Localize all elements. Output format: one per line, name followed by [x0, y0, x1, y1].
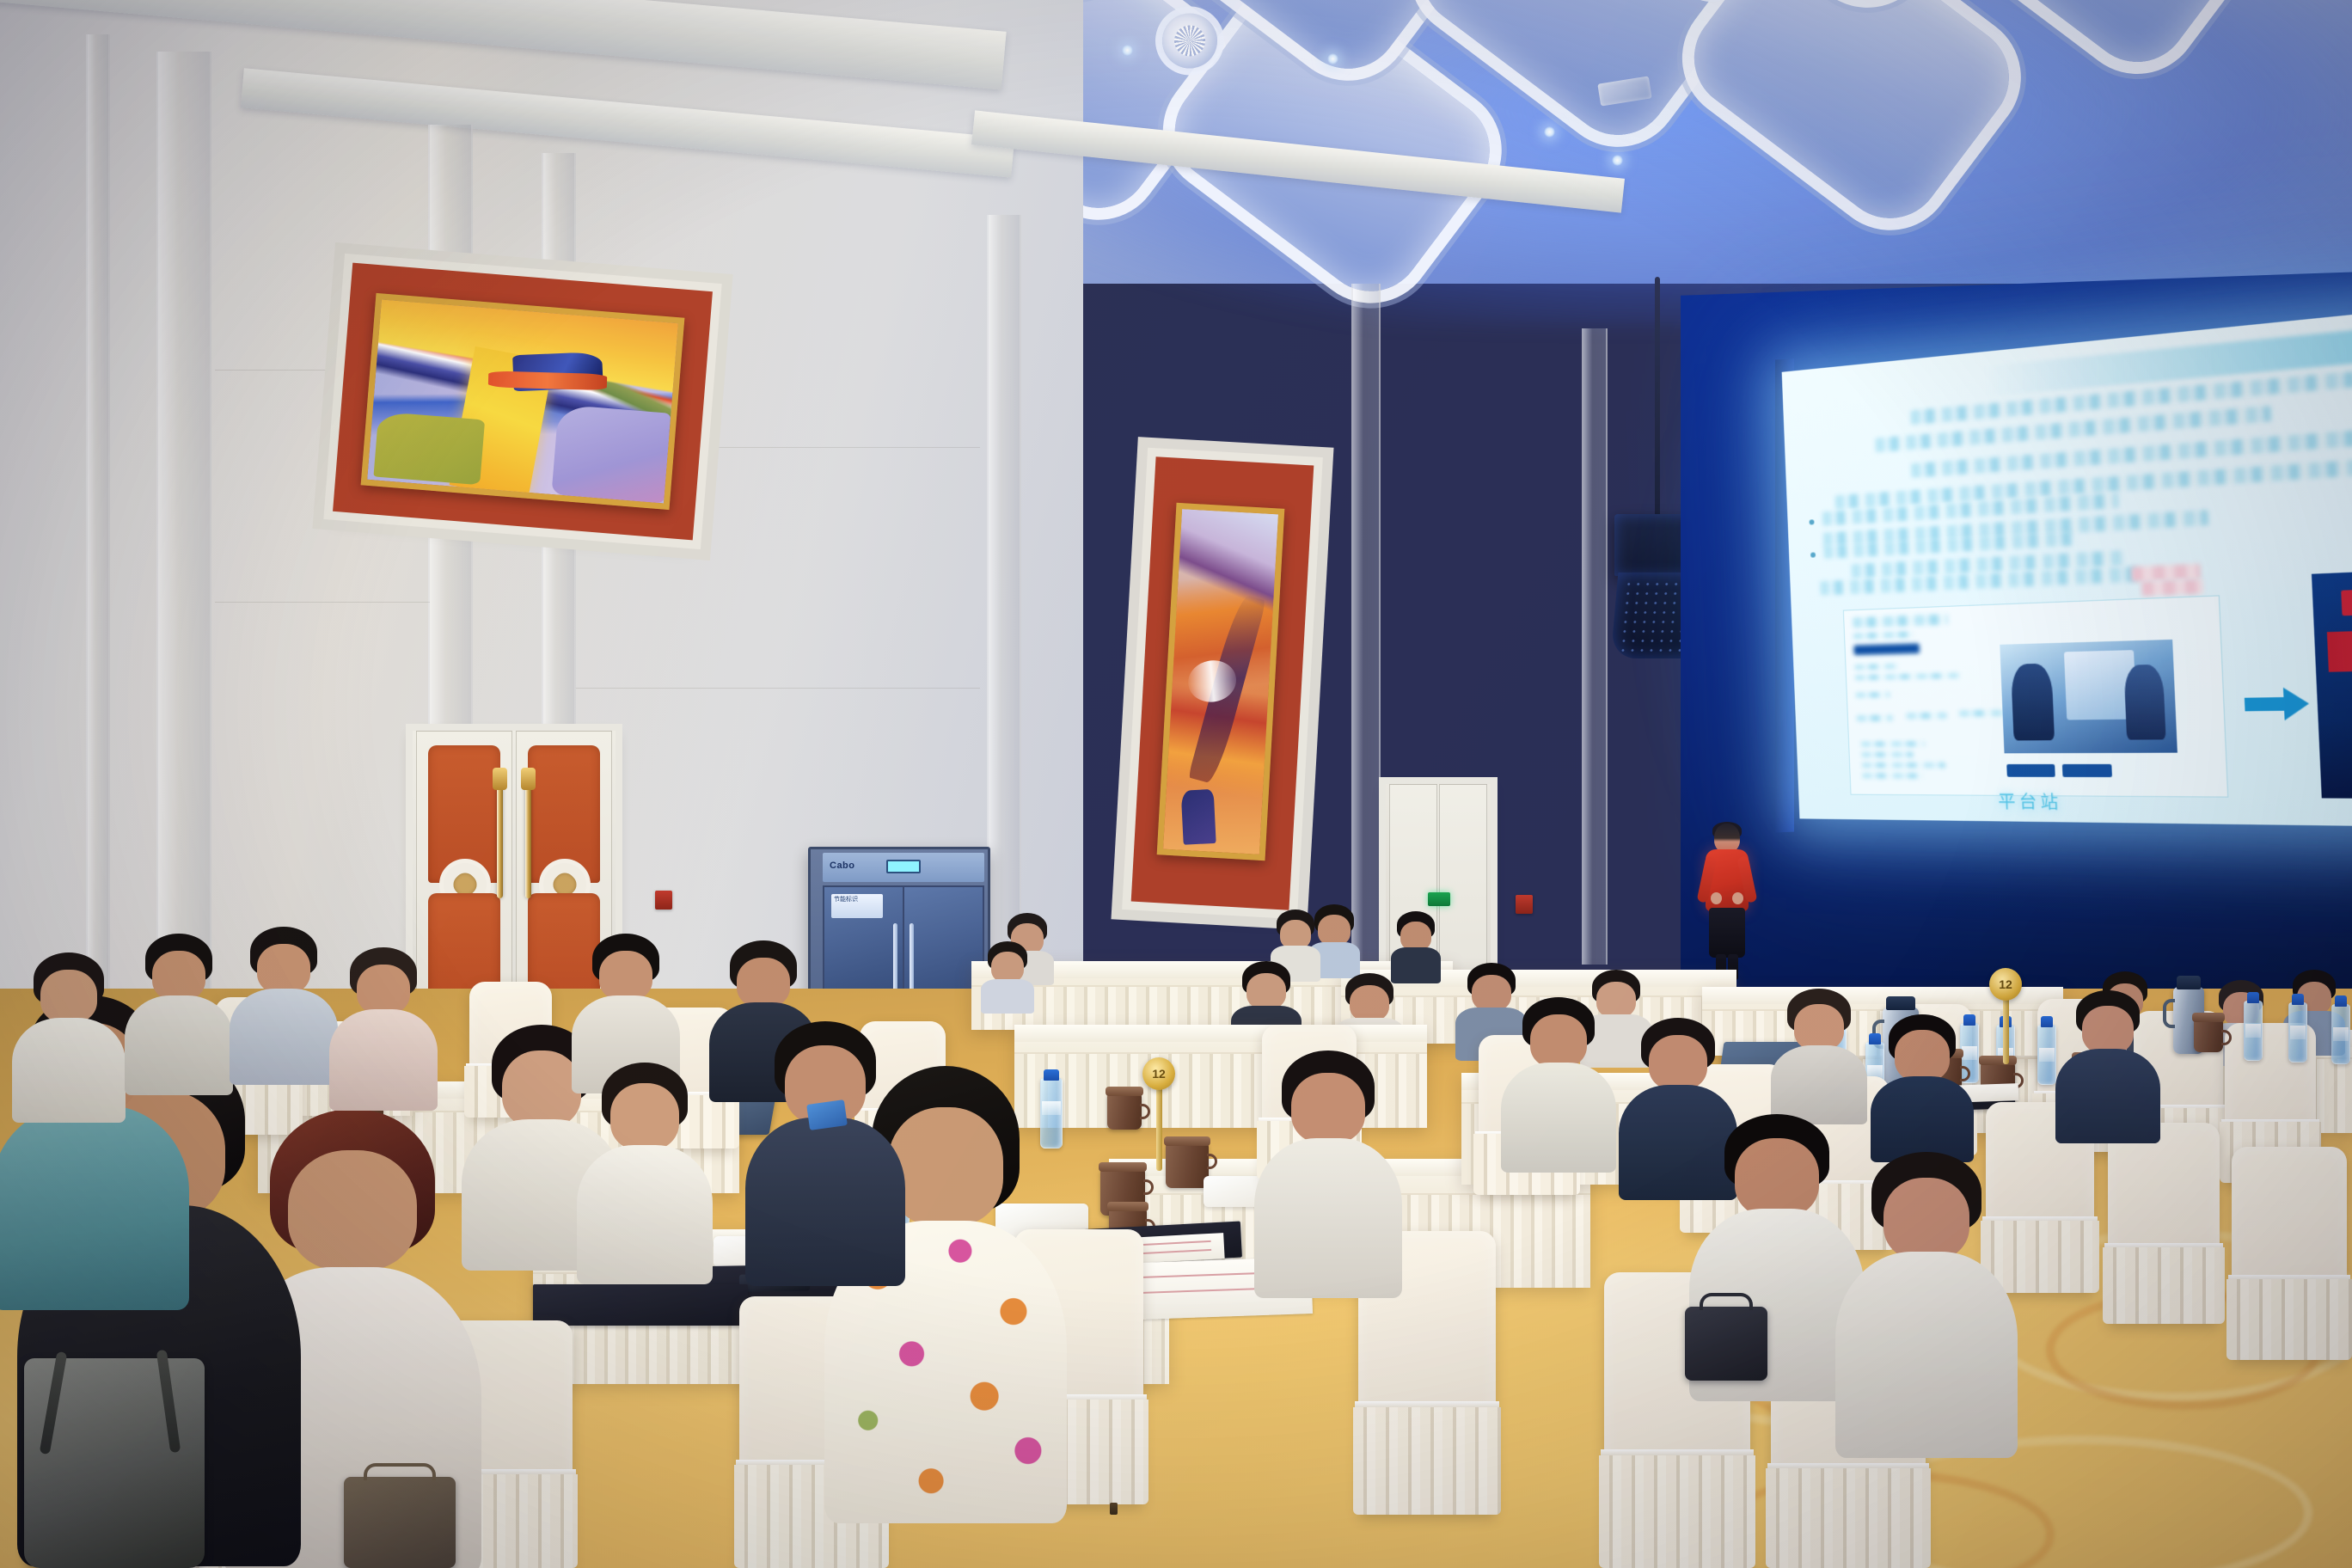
tea-mug[interactable] [1107, 1093, 1142, 1130]
slide-text-highlight [2141, 579, 2203, 597]
conference-hall-photo: Cabo 节能标识 [0, 0, 2352, 1568]
audience-member [765, 1021, 885, 1279]
banquet-chair[interactable] [2108, 1123, 2220, 1324]
slide-bullet [1810, 552, 1816, 557]
ceiling-downlight [1612, 155, 1623, 166]
fridge-display [886, 860, 921, 873]
card-text-blur [1853, 631, 1914, 639]
audience-member [1515, 997, 1602, 1169]
door-handle[interactable] [525, 787, 531, 898]
audience-member [1881, 1014, 1963, 1161]
wall-pilaster [987, 215, 1021, 989]
card-title-blur [1853, 614, 1949, 628]
slide-bullet [1809, 519, 1814, 524]
energy-label-sticker: 节能标识 [831, 894, 883, 918]
audience-member [593, 1063, 696, 1277]
slide-mobile-banner [2312, 567, 2352, 799]
wall-pilaster [1582, 328, 1608, 965]
lanyard-badge [806, 1099, 848, 1130]
table-number-label: 12 [1142, 1057, 1175, 1090]
slide-card-button[interactable] [2062, 764, 2112, 777]
door-handle[interactable] [497, 787, 503, 898]
card-list-blur [1861, 741, 1926, 747]
card-list-blur [1862, 773, 1923, 778]
water-bottle[interactable] [2037, 1025, 2056, 1085]
audience-member [1779, 989, 1859, 1123]
water-bottle[interactable] [2331, 1004, 2350, 1064]
slide-card-button[interactable] [2006, 764, 2055, 777]
audience-member [1633, 1018, 1723, 1198]
projection-screen: 平台站 [1782, 309, 2352, 827]
presenter [1702, 824, 1752, 978]
ceiling-downlight [1544, 126, 1555, 138]
audience-member [2067, 990, 2149, 1142]
audience-member [860, 1066, 1032, 1522]
audience-member [242, 927, 325, 1078]
fridge-brand-label: Cabo [830, 861, 855, 871]
table-number-stand: 12 [1156, 1087, 1162, 1171]
ceiling-downlight [1327, 53, 1338, 64]
card-text-blur [1855, 673, 1960, 681]
water-bottle[interactable] [1040, 1078, 1063, 1148]
wall-pilaster [156, 52, 211, 1006]
water-bottle[interactable] [2288, 1002, 2307, 1063]
banquet-chair[interactable] [2232, 1147, 2347, 1360]
slide-screenshot-card [1843, 595, 2229, 797]
audience-member [26, 952, 112, 1116]
fire-alarm-box[interactable] [655, 891, 672, 910]
card-badge-blur [1853, 643, 1920, 654]
landscape-painting [361, 293, 685, 510]
slide-caption: 平台站 [1998, 788, 2062, 813]
card-text-blur [1854, 664, 1897, 670]
wall-pilaster [86, 34, 110, 1006]
table-number-label: 12 [1989, 968, 2022, 1001]
audience-member [138, 934, 220, 1088]
audience-member [1393, 911, 1439, 982]
card-text-blur [1856, 692, 1890, 698]
abstract-panel-painting [1157, 503, 1285, 861]
tea-mug[interactable] [2194, 1020, 2223, 1052]
card-stat-blur [1907, 713, 1947, 720]
fire-alarm-box[interactable] [1516, 895, 1533, 914]
presenter-head [1714, 824, 1740, 853]
ceiling-downlight [1122, 45, 1133, 56]
leather-desk-pad [533, 1284, 748, 1326]
tea-mug[interactable] [1166, 1143, 1209, 1188]
audience-member [1272, 1050, 1384, 1291]
card-list-blur [1861, 752, 1913, 757]
wall-pilaster [1351, 284, 1381, 971]
presenter-skirt [1709, 908, 1745, 958]
handbag[interactable] [1685, 1307, 1767, 1381]
exit-sign [1428, 892, 1450, 906]
card-list-blur [1862, 763, 1945, 768]
backpack[interactable] [24, 1358, 205, 1568]
audience-member [980, 924, 1032, 1001]
audience-member [1859, 1152, 1994, 1453]
table-number-stand: 12 [2003, 997, 2009, 1064]
audience-member [342, 947, 425, 1102]
slide-embedded-photo [2000, 640, 2177, 753]
card-stat-blur [1857, 715, 1893, 722]
water-bottle[interactable] [2244, 1001, 2263, 1061]
handbag[interactable] [344, 1477, 456, 1568]
